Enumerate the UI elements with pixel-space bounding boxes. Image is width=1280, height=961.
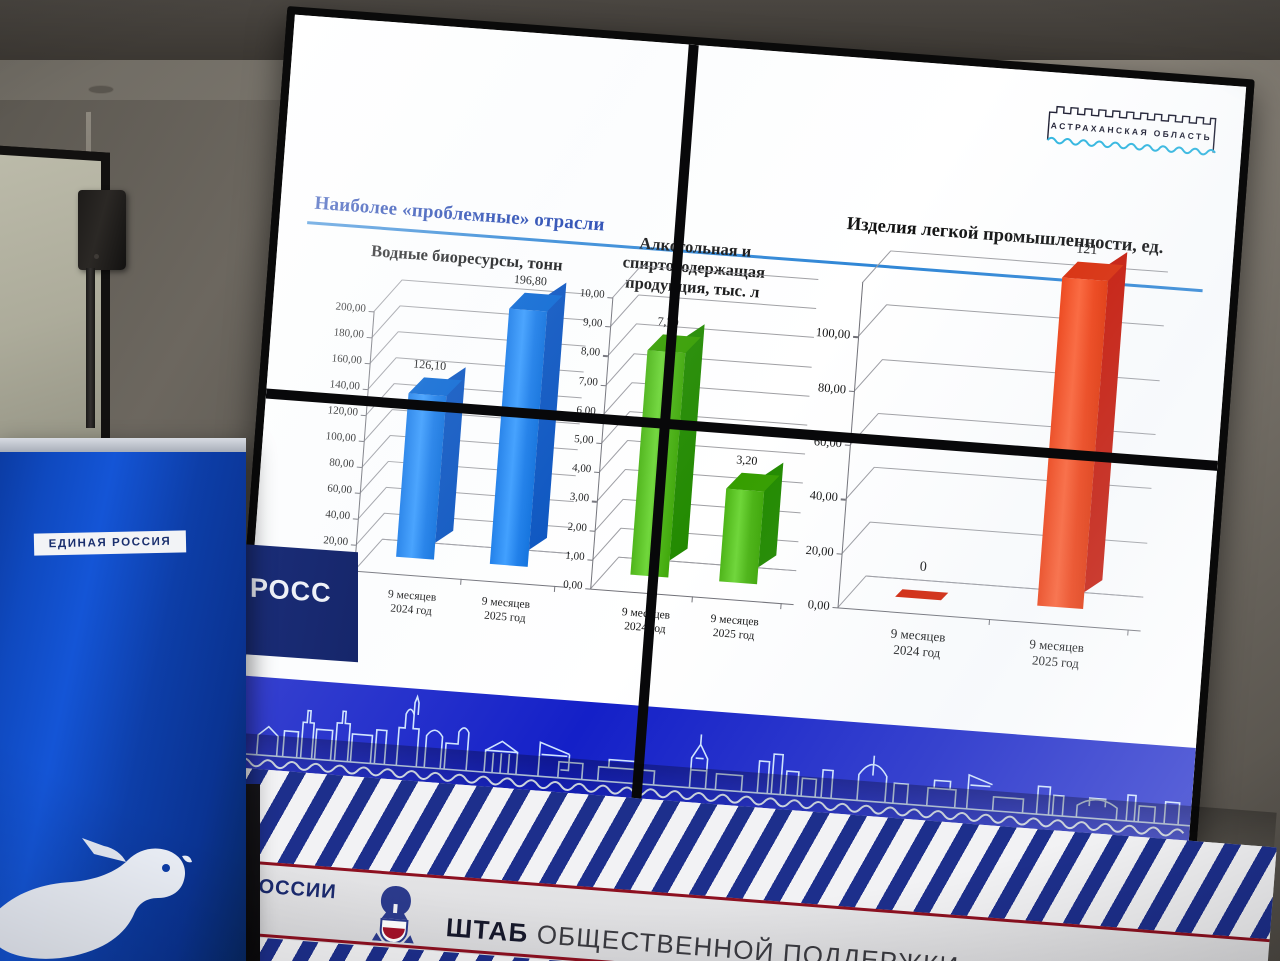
headquarters-bold: ШТАБ: [445, 912, 530, 948]
data-label: 0: [884, 557, 963, 579]
y-tick: [605, 326, 610, 328]
y-axis: [590, 297, 614, 588]
bear-icon: [0, 776, 216, 961]
y-tick: [365, 363, 370, 365]
y-tick: [359, 441, 364, 443]
y-tick: [357, 467, 362, 469]
y-tick: [585, 588, 590, 590]
bar-front-face: [719, 488, 764, 584]
ceiling-vent-icon: [88, 85, 114, 94]
side-banner-label: РОСС: [250, 573, 332, 610]
bar-2: [1037, 278, 1108, 609]
depth-line: [605, 353, 634, 386]
headquarters-rest: ОБЩЕСТВЕННОЙ ПОДДЕРЖКИ: [527, 918, 960, 961]
y-tick-label: 160,00: [304, 350, 363, 366]
y-tick: [361, 415, 366, 417]
y-tick: [603, 355, 608, 357]
party-name-badge: ЕДИНАЯ РОССИЯ: [34, 530, 186, 555]
y-tick-label: 7,00: [540, 372, 599, 388]
astrakhan-region-logo: АСТРАХАНСКАЯ ОБЛАСТЬ: [1041, 100, 1223, 167]
bar-zero-plate: [895, 589, 948, 600]
y-tick-label: 20,00: [290, 532, 349, 548]
data-label: 126,10: [394, 355, 465, 375]
x-tick: [989, 619, 990, 625]
y-tick-label: 1,00: [526, 547, 585, 563]
y-tick: [587, 559, 592, 561]
y-tick-label: 4,00: [533, 459, 592, 475]
y-tick-label: 3,00: [531, 488, 590, 504]
y-tick-label: 200,00: [308, 298, 367, 314]
y-tick: [601, 384, 606, 386]
y-tick: [363, 389, 368, 391]
y-tick-label: 100,00: [792, 324, 851, 343]
y-tick: [369, 311, 374, 313]
y-tick-label: 20,00: [775, 540, 834, 559]
depth-line: [862, 251, 891, 284]
speaker-icon: [78, 190, 126, 270]
y-tick: [594, 472, 599, 474]
y-tick: [367, 337, 372, 339]
y-axis: [354, 311, 375, 570]
depth-line: [841, 521, 870, 554]
y-tick-label: 80,00: [296, 454, 355, 470]
depth-line: [596, 470, 625, 503]
bear-shield-icon: [370, 882, 420, 943]
y-tick: [837, 553, 842, 555]
y-tick: [853, 336, 858, 338]
y-tick-label: 0,00: [524, 576, 583, 592]
x-tick-label: 9 месяцев2025 год: [1003, 634, 1109, 674]
y-tick-label: 180,00: [306, 324, 365, 340]
side-banner: РОСС: [238, 544, 358, 662]
party-name-label: ЕДИНАЯ РОССИЯ: [49, 536, 172, 551]
y-tick-label: 40,00: [779, 486, 838, 505]
bar-1: [898, 595, 944, 601]
y-tick-label: 60,00: [294, 480, 353, 496]
video-wall-screen[interactable]: АСТРАХАНСКАЯ ОБЛАСТЬ Наиболее «проблемны…: [237, 15, 1246, 844]
y-tick-label: 140,00: [302, 376, 361, 392]
depth-line: [858, 305, 887, 338]
y-tick: [592, 501, 597, 503]
y-tick-label: 5,00: [535, 430, 594, 446]
depth-line: [837, 576, 866, 609]
y-tick-label: 9,00: [544, 314, 603, 330]
y-tick: [845, 445, 850, 447]
y-tick-label: 100,00: [298, 428, 357, 444]
depth-line: [845, 467, 874, 500]
y-tick-label: 2,00: [529, 517, 588, 533]
y-tick: [841, 499, 846, 501]
speaker-stand: [86, 268, 95, 428]
depth-line: [592, 528, 621, 561]
y-tick-label: 8,00: [542, 343, 601, 359]
bar-1: [396, 393, 446, 559]
depth-line: [590, 557, 619, 590]
x-tick: [691, 596, 692, 602]
slide-title: Наиболее «проблемные» отрасли: [314, 193, 606, 237]
data-label: 3,20: [711, 450, 782, 470]
depth-line: [603, 382, 632, 415]
depth-line: [854, 359, 883, 392]
depth-line: [599, 440, 628, 473]
y-tick: [849, 390, 854, 392]
y-tick-label: 80,00: [788, 378, 847, 397]
rollup-banner-top-rail: [0, 438, 246, 452]
y-tick: [832, 607, 837, 609]
y-tick: [607, 297, 612, 299]
video-wall[interactable]: АСТРАХАНСКАЯ ОБЛАСТЬ Наиболее «проблемны…: [228, 0, 1255, 861]
rollup-banner: ЕДИНАЯ РОССИЯ: [0, 446, 246, 961]
y-tick: [590, 530, 595, 532]
x-tick-label: 9 месяцев2024 год: [864, 624, 970, 664]
chart-title: Алкогольная и спиртосодержащая продукция…: [577, 229, 811, 307]
room-scene: АСТРАХАНСКАЯ ОБЛАСТЬ Наиболее «проблемны…: [0, 0, 1280, 961]
y-tick: [596, 443, 601, 445]
x-tick-label: 9 месяцев2024 год: [359, 585, 465, 622]
y-tick: [353, 518, 358, 520]
y-tick-label: 40,00: [292, 506, 351, 522]
y-tick-label: 0,00: [771, 594, 830, 613]
depth-line: [608, 324, 637, 357]
y-tick: [355, 492, 360, 494]
x-tick: [460, 579, 461, 585]
depth-line: [594, 499, 623, 532]
x-tick: [1127, 630, 1128, 636]
bar-2: [719, 488, 764, 584]
y-tick: [351, 544, 356, 546]
